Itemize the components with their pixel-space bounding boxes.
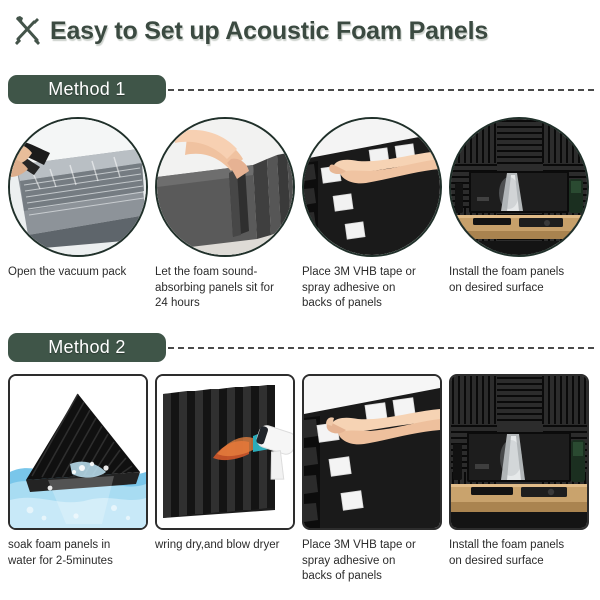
caption-text: Place 3M VHB tape or spray adhesive on b… bbox=[302, 538, 441, 585]
method-2-step-1: soak foam panels in water for 2-5minutes bbox=[0, 374, 147, 585]
method-1-step-4: Install the foam panels on desired surfa… bbox=[441, 117, 588, 312]
method-2-step-3: Place 3M VHB tape or spray adhesive on b… bbox=[294, 374, 441, 585]
caption-text: Open the vacuum pack bbox=[8, 265, 147, 281]
method-1-dashed-rule bbox=[168, 89, 594, 91]
foam-panel-soaking-in-water-photo bbox=[8, 374, 148, 530]
foam-panels-expanding-photo bbox=[155, 117, 295, 257]
method-2-step-2: wring dry,and blow dryer bbox=[147, 374, 294, 585]
blow-dryer-drying-foam-photo bbox=[155, 374, 295, 530]
caption-text: wring dry,and blow dryer bbox=[155, 538, 294, 554]
caption-text: Place 3M VHB tape or spray adhesive on b… bbox=[302, 265, 441, 312]
installed-foam-wall-desk-photo bbox=[449, 374, 589, 530]
method-1-step-3: Place 3M VHB tape or spray adhesive on b… bbox=[294, 117, 441, 312]
method-2-figure-row: soak foam panels in water for 2-5minutes bbox=[0, 374, 600, 585]
page-title: Easy to Set up Acoustic Foam Panels bbox=[10, 14, 488, 48]
method-1-step-1: Open the vacuum pack bbox=[0, 117, 147, 312]
tools-wrench-screwdriver-icon bbox=[10, 14, 44, 48]
page-title-text: Easy to Set up Acoustic Foam Panels bbox=[50, 17, 488, 46]
method-1-header: Method 1 bbox=[8, 74, 594, 104]
method-2-badge: Method 2 bbox=[8, 333, 166, 362]
caption-text: Install the foam panels on desired surfa… bbox=[449, 538, 588, 569]
method-2-dashed-rule bbox=[168, 347, 594, 349]
method-2-header: Method 2 bbox=[8, 332, 594, 362]
caption-text: Let the foam sound-absorbing panels sit … bbox=[155, 265, 294, 312]
applying-tape-to-panel-backs-photo bbox=[302, 374, 442, 530]
vacuum-pack-opening-photo bbox=[8, 117, 148, 257]
installed-foam-wall-desk-photo bbox=[449, 117, 589, 257]
method-1-step-2: Let the foam sound-absorbing panels sit … bbox=[147, 117, 294, 312]
method-1-figure-row: Open the vacuum pack L bbox=[0, 117, 600, 312]
method-1-badge: Method 1 bbox=[8, 75, 166, 104]
applying-tape-to-panel-backs-photo bbox=[302, 117, 442, 257]
caption-text: Install the foam panels on desired surfa… bbox=[449, 265, 588, 296]
caption-text: soak foam panels in water for 2-5minutes bbox=[8, 538, 147, 569]
method-2-step-4: Install the foam panels on desired surfa… bbox=[441, 374, 588, 585]
